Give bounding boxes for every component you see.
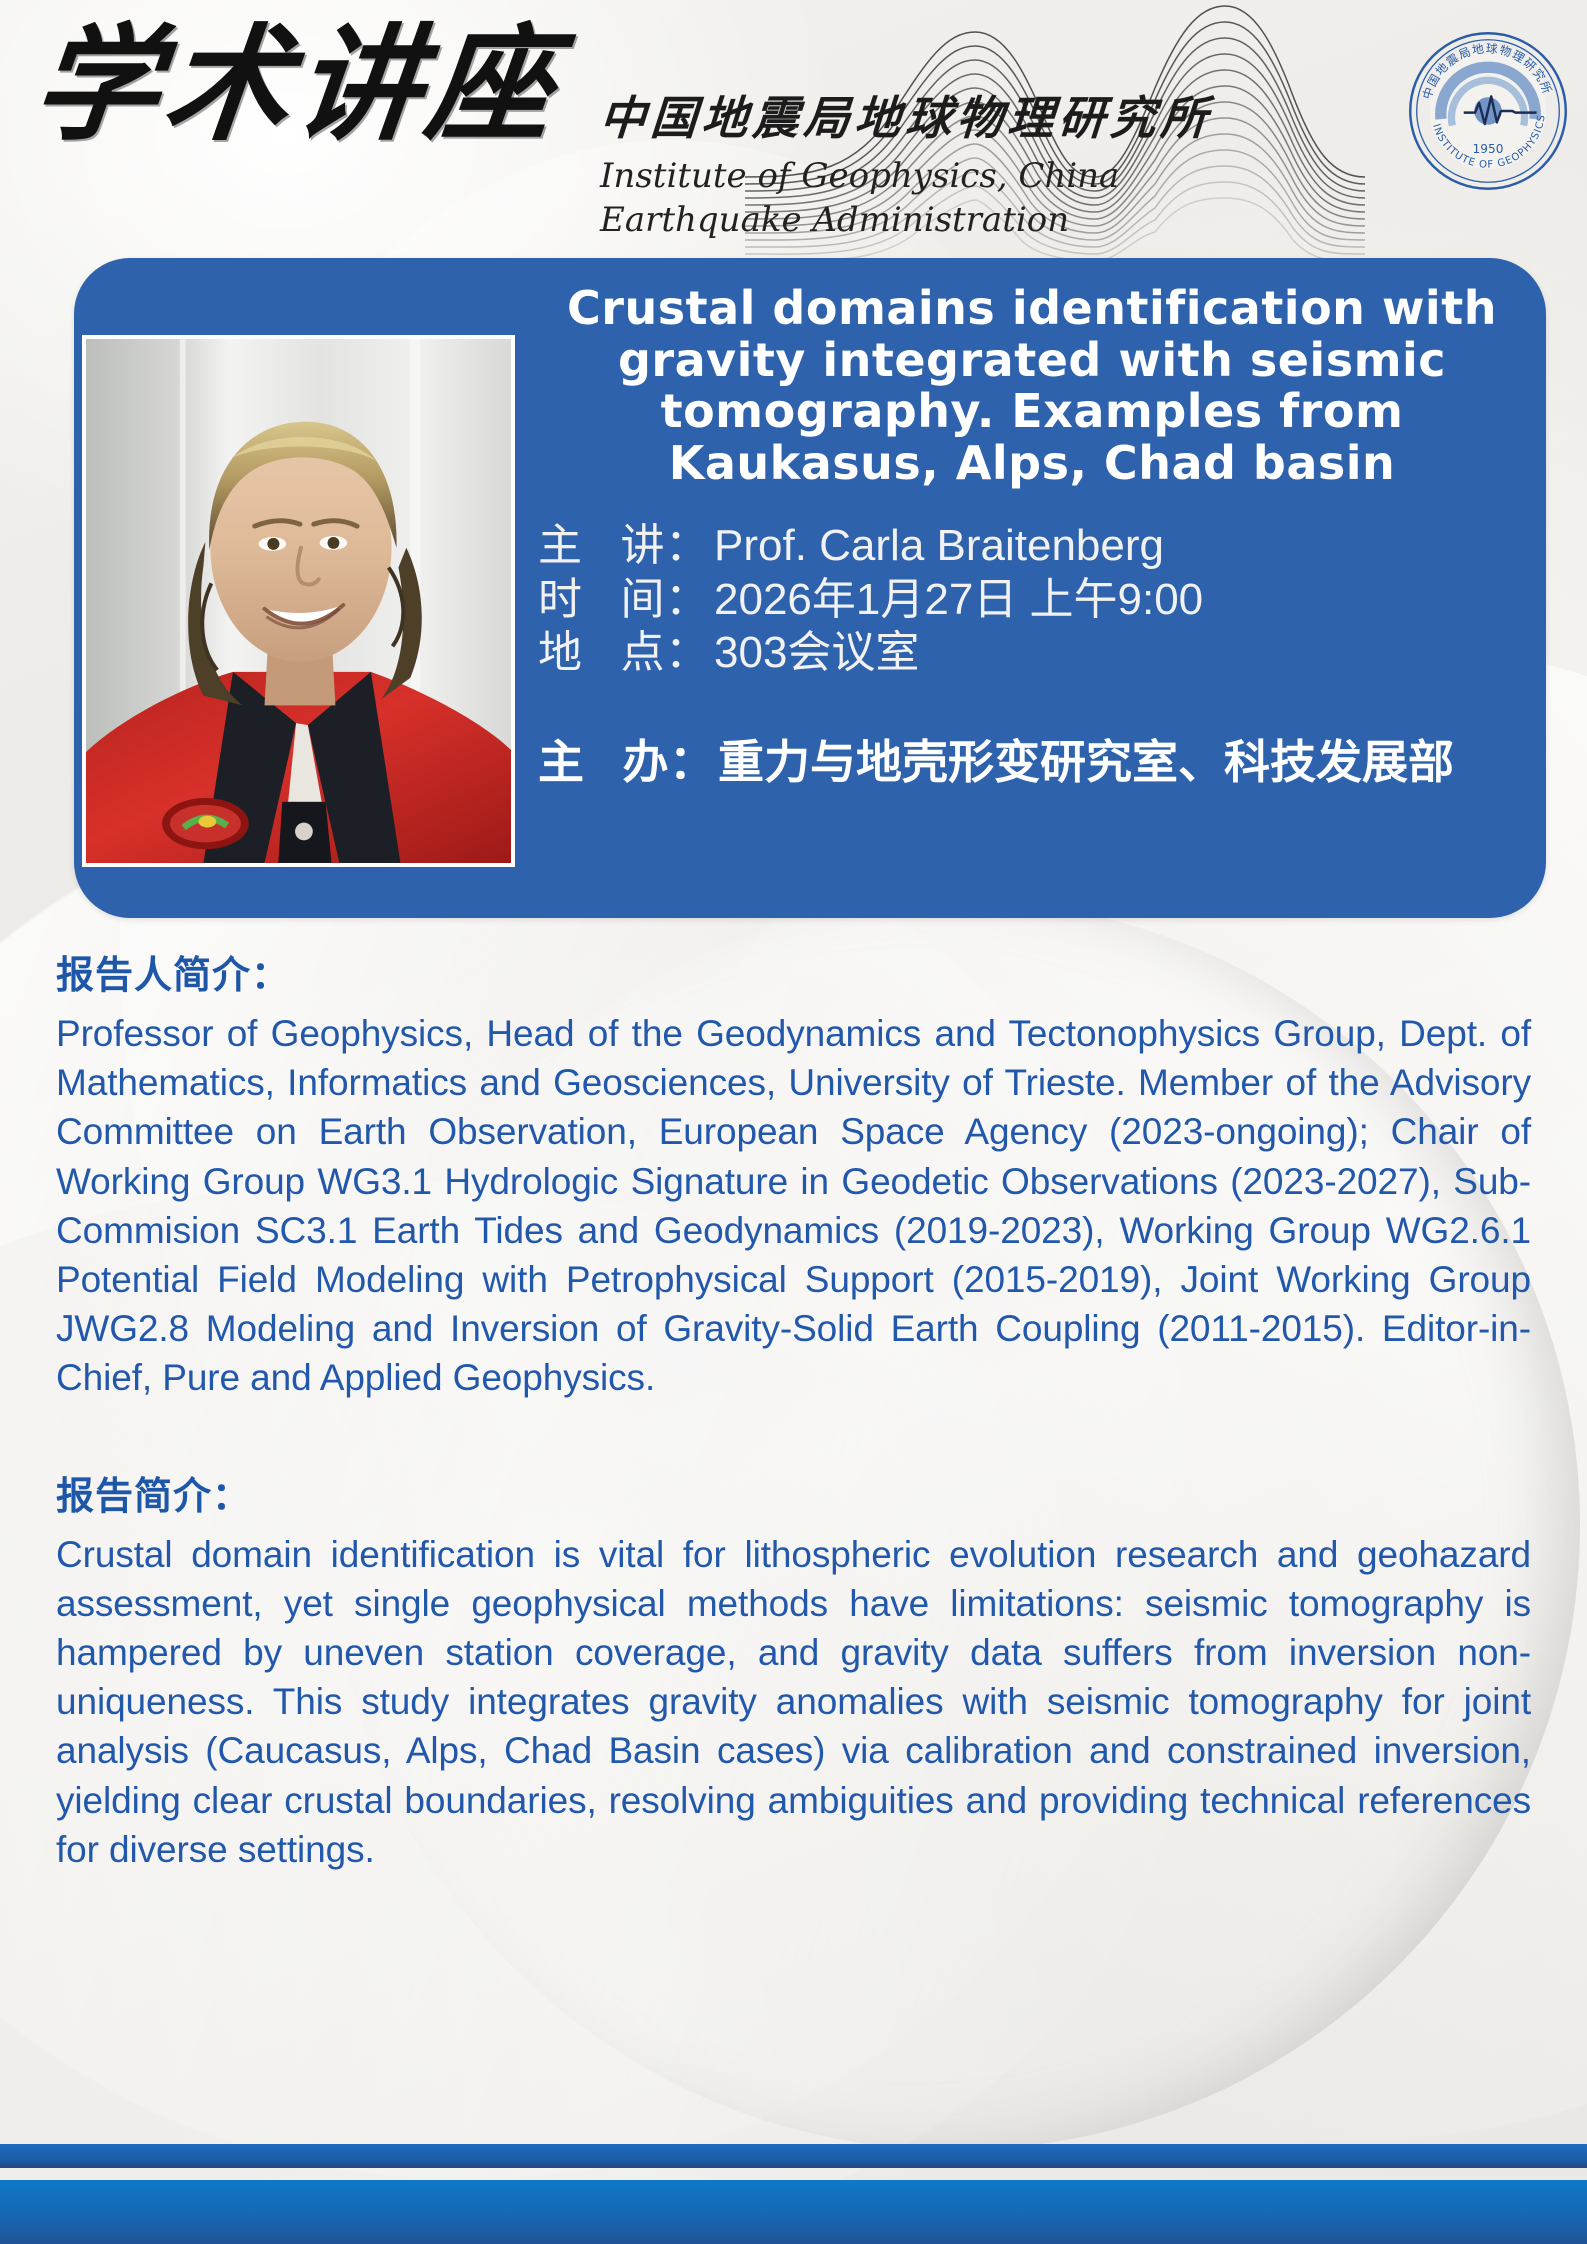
- meta-row-location: 地点： 303会议室: [538, 626, 1526, 680]
- logo-year: 1950: [1473, 142, 1504, 156]
- meta-value-location: 303会议室: [714, 626, 919, 680]
- meta-row-host: 主办： 重力与地壳形变研究室、科技发展部: [538, 726, 1526, 792]
- poster-canvas: 学术讲座 中国地震局地球物理研究所 Institute of Geophysic…: [0, 0, 1587, 2244]
- meta-row-speaker: 主讲： Prof. Carla Braitenberg: [538, 519, 1526, 573]
- speaker-bio-section: 报告人简介： Professor of Geophysics, Head of …: [0, 944, 1587, 1403]
- speaker-bio-text: Professor of Geophysics, Head of the Geo…: [56, 1009, 1531, 1403]
- institute-name-en: Institute of Geophysics, China Earthquak…: [600, 155, 1320, 242]
- speaker-photo: [82, 335, 515, 867]
- meta-row-time: 时间： 2026年1月27日 上午9:00: [538, 573, 1526, 627]
- page-title-brush: 学术讲座: [27, 22, 564, 150]
- lecture-meta-list: 主讲： Prof. Carla Braitenberg 时间： 2026年1月2…: [538, 519, 1526, 680]
- speaker-bio-heading: 报告人简介：: [56, 944, 1531, 999]
- meta-value-time: 2026年1月27日 上午9:00: [714, 573, 1203, 627]
- meta-value-speaker: Prof. Carla Braitenberg: [714, 519, 1164, 573]
- meta-label-host: 主办：: [538, 726, 718, 792]
- abstract-text: Crustal domain identification is vital f…: [56, 1530, 1531, 1874]
- talk-title: Crustal domains identification with grav…: [538, 283, 1526, 489]
- poster-header: 学术讲座 中国地震局地球物理研究所 Institute of Geophysic…: [0, 0, 1587, 262]
- footer-bar-thick: [0, 2180, 1587, 2244]
- abstract-heading: 报告简介：: [56, 1465, 1531, 1520]
- abstract-section: 报告简介： Crustal domain identification is v…: [0, 1465, 1587, 1874]
- poster-body: 报告人简介： Professor of Geophysics, Head of …: [0, 944, 1587, 1874]
- meta-label-location: 地点：: [538, 626, 714, 680]
- meta-label-time: 时间：: [538, 573, 714, 627]
- footer-bar-thin: [0, 2144, 1587, 2168]
- meta-value-host: 重力与地壳形变研究室、科技发展部: [718, 726, 1454, 792]
- institute-logo-icon: 1950 中国地震局地球物理研究所 INSTITUTE OF GEOPHYSIC…: [1407, 30, 1569, 192]
- institute-name-cn: 中国地震局地球物理研究所: [598, 82, 1215, 148]
- meta-label-speaker: 主讲：: [538, 519, 714, 573]
- speaker-portrait-image: [86, 339, 511, 863]
- card-text-column: Crustal domains identification with grav…: [538, 283, 1526, 792]
